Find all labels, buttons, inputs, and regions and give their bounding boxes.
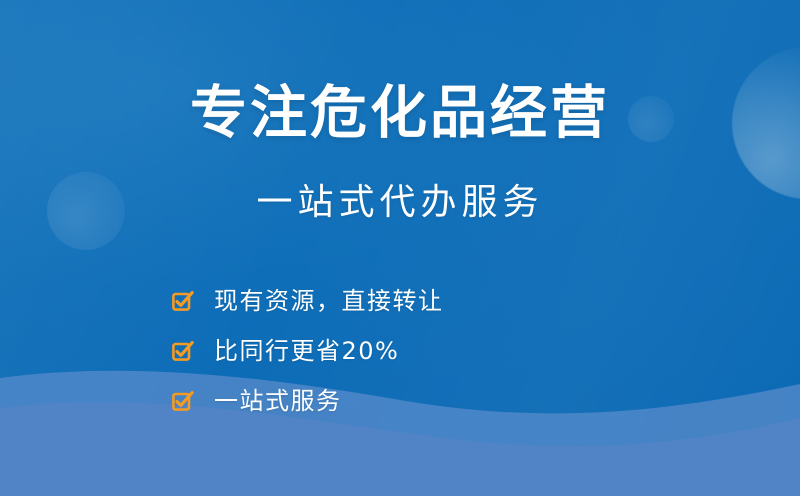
feature-item: 现有资源，直接转让: [172, 276, 692, 326]
banner-headline: 专注危化品经营: [0, 83, 800, 143]
feature-list: 现有资源，直接转让 比同行更省20% 一站式: [172, 276, 692, 426]
feature-item-label: 比同行更省20%: [214, 339, 399, 363]
feature-item-label: 现有资源，直接转让: [214, 289, 444, 313]
banner-content: 专注危化品经营 一站式代办服务 现有资源，直接转让: [0, 0, 800, 496]
feature-item: 比同行更省20%: [172, 326, 692, 376]
feature-item-label: 一站式服务: [214, 389, 342, 413]
promo-banner: 专注危化品经营 一站式代办服务 现有资源，直接转让: [0, 0, 800, 496]
feature-item: 一站式服务: [172, 376, 692, 426]
checkbox-check-icon: [172, 290, 194, 312]
checkbox-check-icon: [172, 390, 194, 412]
banner-subheadline: 一站式代办服务: [0, 182, 800, 223]
checkbox-check-icon: [172, 340, 194, 362]
